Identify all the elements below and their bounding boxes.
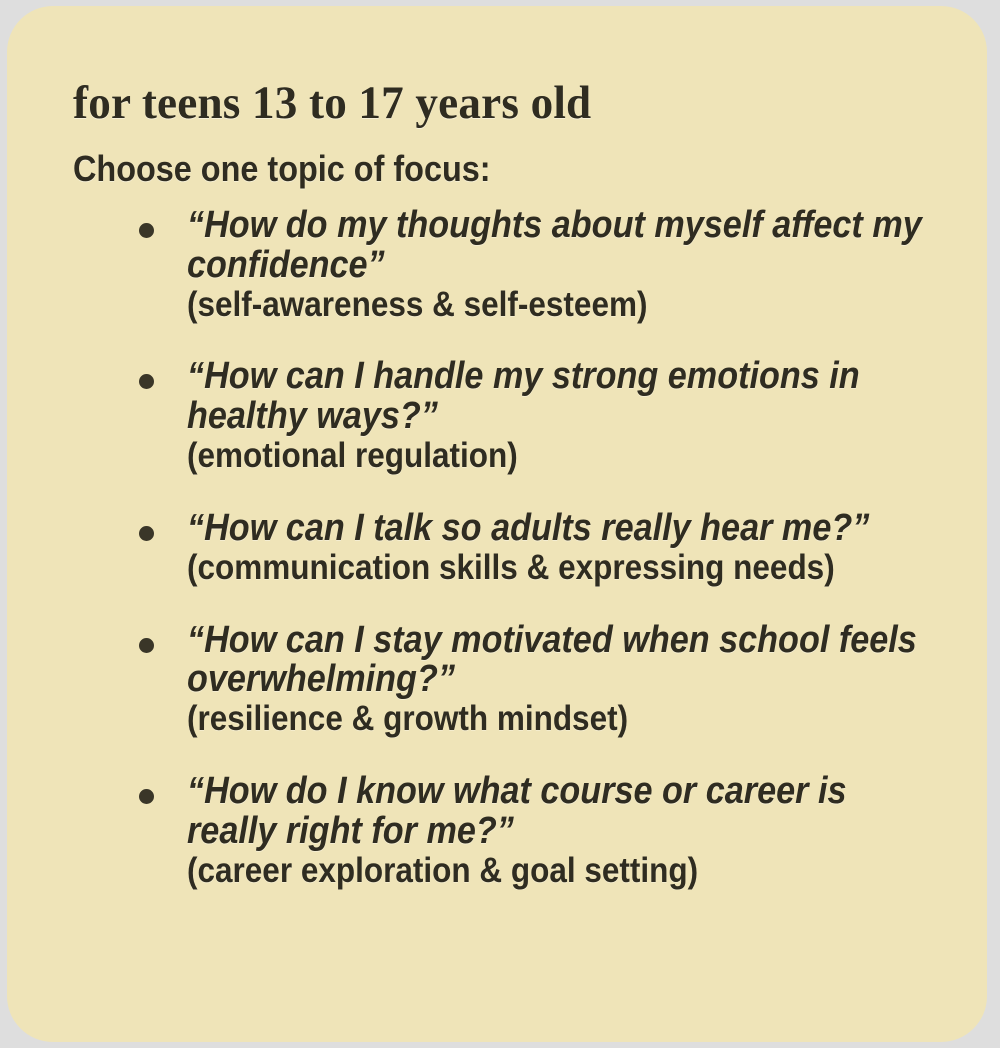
topic-list: “How do my thoughts about myself affect … — [73, 206, 939, 890]
topic-detail: (communication skills & expressing needs… — [187, 549, 938, 587]
topic-detail: (self-awareness & self-esteem) — [187, 286, 938, 324]
bullet-dot-icon — [139, 223, 154, 238]
list-item[interactable]: “How can I talk so adults really hear me… — [129, 509, 939, 587]
list-item[interactable]: “How can I handle my strong emotions in … — [129, 357, 939, 475]
instruction-text: Choose one topic of focus: — [73, 150, 852, 188]
topic-detail: (career exploration & goal setting) — [187, 852, 938, 890]
teen-topics-card: for teens 13 to 17 years old Choose one … — [7, 6, 987, 1042]
page-title: for teens 13 to 17 years old — [73, 80, 904, 128]
topic-question: “How do my thoughts about myself affect … — [187, 206, 938, 286]
bullet-dot-icon — [139, 374, 154, 389]
bullet-dot-icon — [139, 526, 154, 541]
list-item[interactable]: “How can I stay motivated when school fe… — [129, 621, 939, 739]
topic-question: “How do I know what course or career is … — [187, 772, 938, 852]
topic-question: “How can I handle my strong emotions in … — [187, 357, 938, 437]
bullet-dot-icon — [139, 789, 154, 804]
list-item[interactable]: “How do I know what course or career is … — [129, 772, 939, 890]
list-item[interactable]: “How do my thoughts about myself affect … — [129, 206, 939, 324]
page-canvas: for teens 13 to 17 years old Choose one … — [0, 0, 1000, 1048]
topic-detail: (emotional regulation) — [187, 437, 938, 475]
topic-detail: (resilience & growth mindset) — [187, 700, 938, 738]
topic-question: “How can I stay motivated when school fe… — [187, 621, 938, 701]
topic-question: “How can I talk so adults really hear me… — [187, 509, 938, 549]
bullet-dot-icon — [139, 638, 154, 653]
